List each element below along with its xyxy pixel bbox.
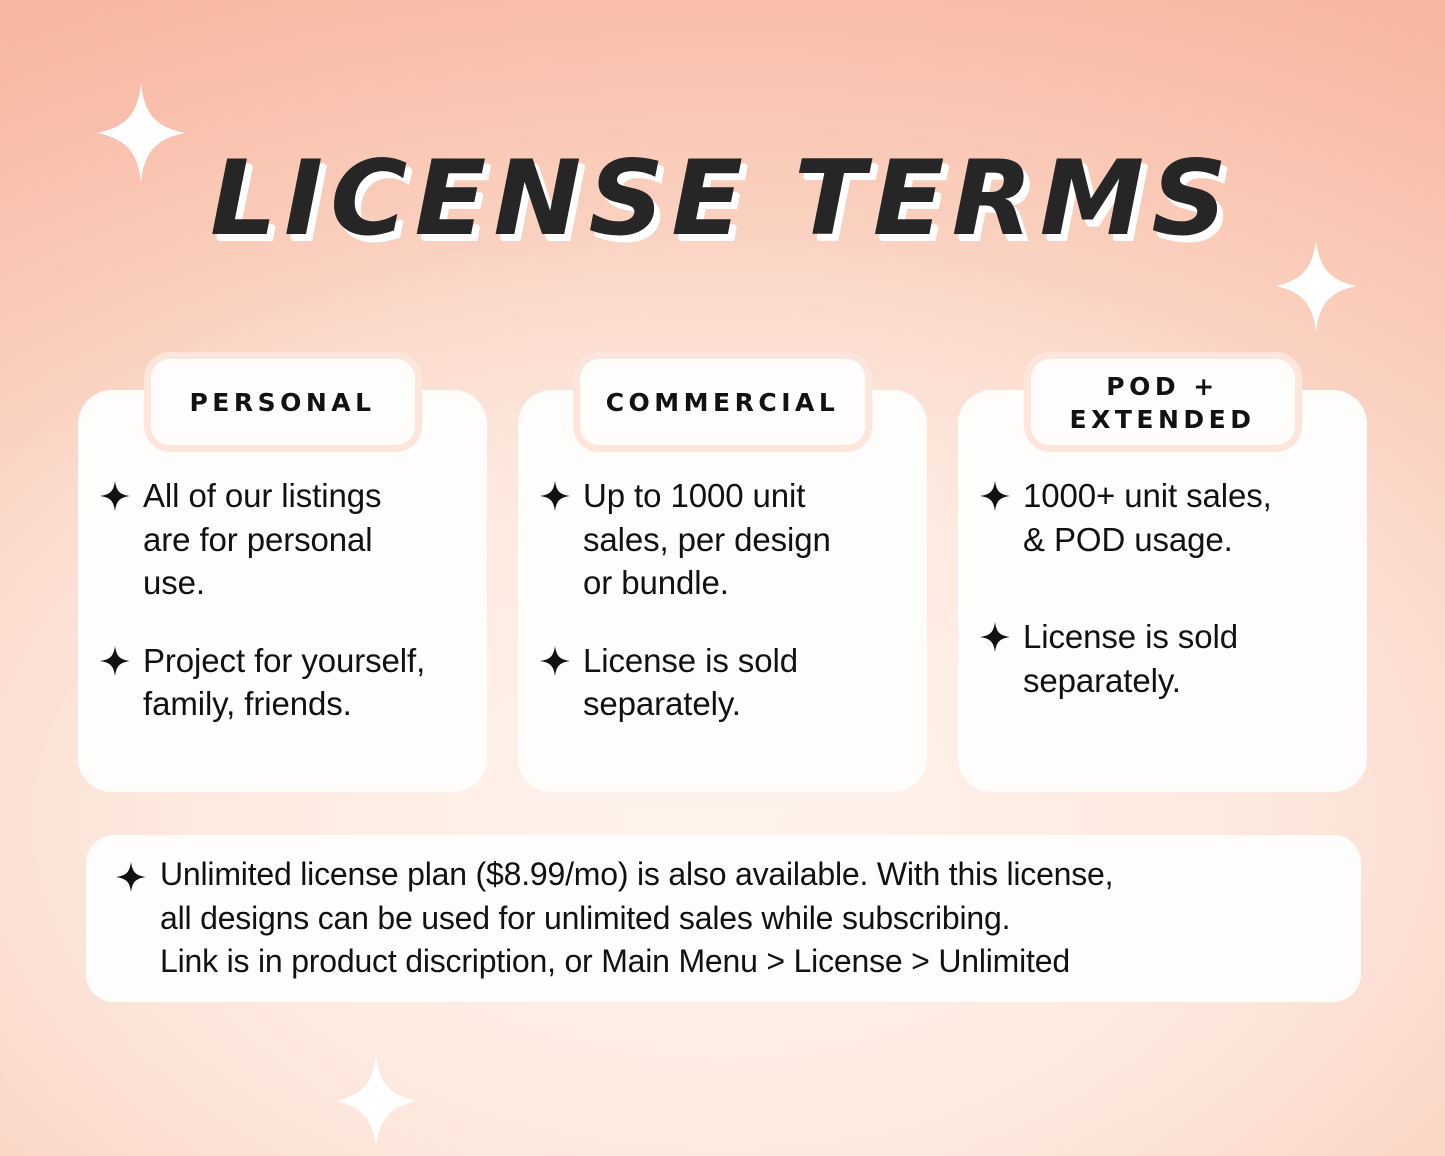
banner-text: Unlimited license plan ($8.99/mo) is als… <box>160 853 1113 984</box>
page-title: LICENSE TERMS <box>210 148 1234 251</box>
license-card-personal: PERSONAL All of our listings are for per… <box>78 390 487 792</box>
license-tier-cards: PERSONAL All of our listings are for per… <box>78 352 1367 792</box>
bullet-text: License is sold separately. <box>1023 615 1238 702</box>
card-header-commercial: COMMERCIAL <box>573 352 873 452</box>
bullet-text: Up to 1000 unit sales, per design or bun… <box>583 474 831 605</box>
list-item: Up to 1000 unit sales, per design or bun… <box>540 474 897 605</box>
bullet-text: License is sold separately. <box>583 639 798 726</box>
unlimited-license-banner: Unlimited license plan ($8.99/mo) is als… <box>86 835 1361 1002</box>
four-point-star-icon <box>980 622 1010 652</box>
bullet-text: All of our listings are for personal use… <box>143 474 381 605</box>
bullet-list-pod-extended: 1000+ unit sales, & POD usage. License i… <box>980 474 1337 702</box>
title-area: LICENSE TERMS <box>0 148 1445 251</box>
four-point-star-icon <box>980 481 1010 511</box>
list-item: 1000+ unit sales, & POD usage. <box>980 474 1337 561</box>
card-header-label-personal: PERSONAL <box>189 386 375 419</box>
four-point-star-icon <box>116 862 146 892</box>
list-item: Project for yourself, family, friends. <box>100 639 457 726</box>
four-point-star-icon <box>540 481 570 511</box>
four-point-star-icon <box>540 646 570 676</box>
card-header-label-commercial: COMMERCIAL <box>606 386 840 419</box>
bullet-list-commercial: Up to 1000 unit sales, per design or bun… <box>540 474 897 726</box>
four-point-star-icon <box>100 646 130 676</box>
card-header-pod-extended: POD + EXTENDED <box>1024 352 1302 452</box>
license-card-commercial: COMMERCIAL Up to 1000 unit sales, per de… <box>518 390 927 792</box>
bullet-text: Project for yourself, family, friends. <box>143 639 425 726</box>
card-header-label-pod-extended: POD + EXTENDED <box>1070 370 1256 436</box>
license-card-pod-extended: POD + EXTENDED 1000+ unit sales, & POD u… <box>958 390 1367 792</box>
card-header-personal: PERSONAL <box>144 352 422 452</box>
bullet-list-personal: All of our listings are for personal use… <box>100 474 457 726</box>
four-point-star-icon <box>100 481 130 511</box>
list-item: License is sold separately. <box>980 615 1337 702</box>
bullet-text: 1000+ unit sales, & POD usage. <box>1023 474 1272 561</box>
list-item: All of our listings are for personal use… <box>100 474 457 605</box>
list-item: License is sold separately. <box>540 639 897 726</box>
